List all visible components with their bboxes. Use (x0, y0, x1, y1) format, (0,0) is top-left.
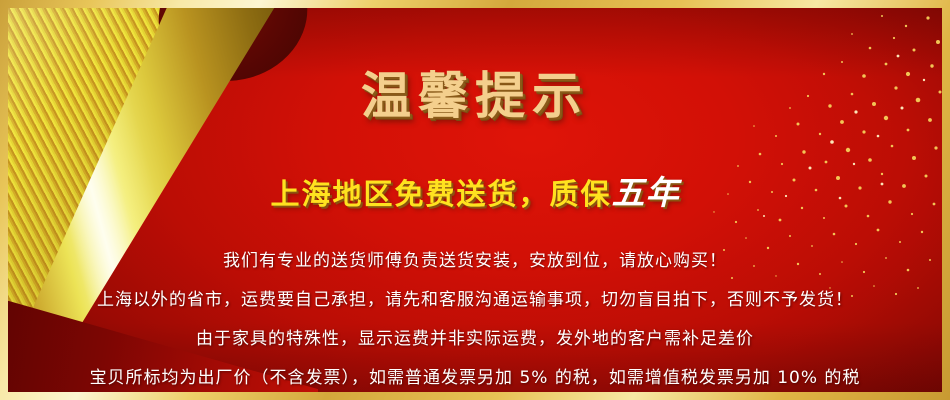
body-line-2: 上海以外的省市，运费要自己承担，请先和客服沟通运输事项，切勿盲目拍下，否则不予发… (8, 285, 942, 310)
body-line-1: 我们有专业的送货师傅负责送货安装，安放到位，请放心购买！ (8, 246, 942, 271)
banner-content: 温馨提示 上海地区免费送货，质保五年 我们有专业的送货师傅负责送货安装，安放到位… (8, 8, 942, 388)
subtitle-highlight: 五年 (612, 173, 680, 212)
promotional-banner: 温馨提示 上海地区免费送货，质保五年 我们有专业的送货师傅负责送货安装，安放到位… (0, 0, 950, 400)
subtitle-prefix: 上海地区免费送货，质保 (270, 177, 611, 211)
body-line-4: 宝贝所标均为出厂价（不含发票），如需普通发票另加 5% 的税，如需增值税发票另加… (8, 363, 942, 388)
body-line-3: 由于家具的特殊性，显示运费并非实际运费，发外地的客户需补足差价 (8, 324, 942, 349)
page-title: 温馨提示 (8, 56, 942, 128)
subtitle-line: 上海地区免费送货，质保五年 (8, 166, 942, 214)
banner-red-field: 温馨提示 上海地区免费送货，质保五年 我们有专业的送货师傅负责送货安装，安放到位… (8, 8, 942, 392)
